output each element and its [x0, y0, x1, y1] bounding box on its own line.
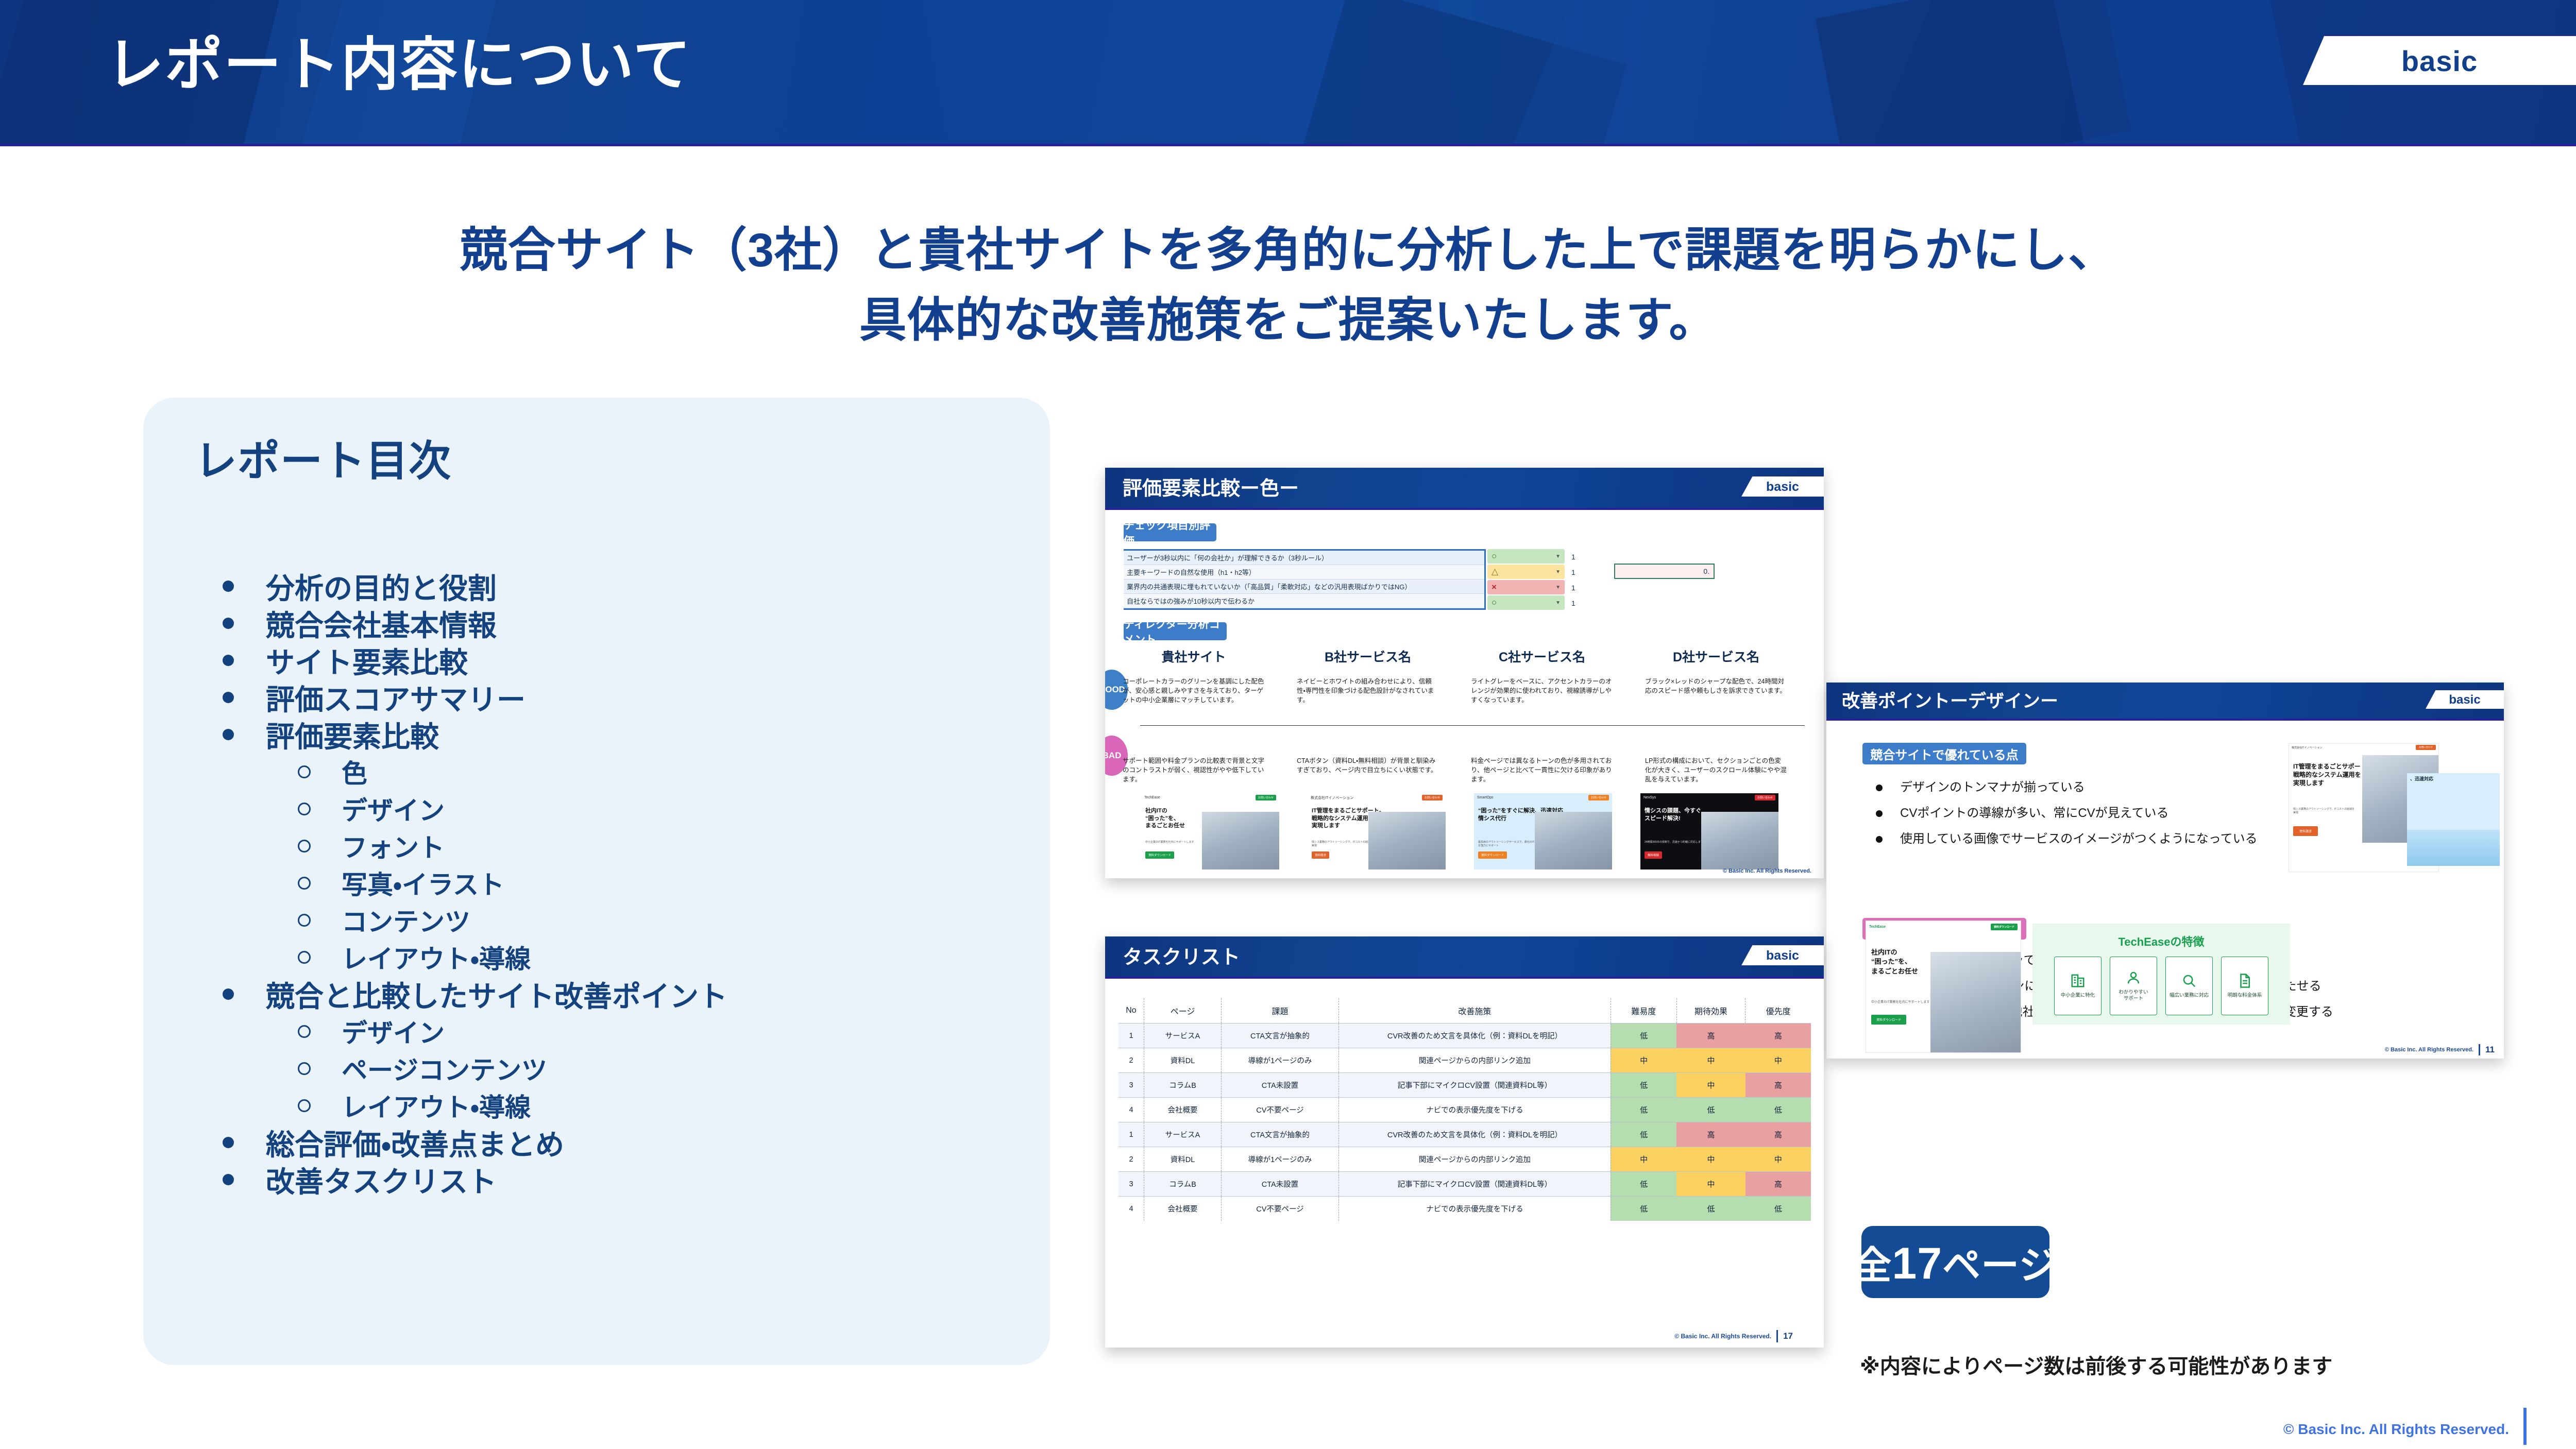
feature-card: 幅広い業務に対応: [2165, 957, 2213, 1015]
task-cell-no: 2: [1118, 1147, 1144, 1172]
toc-item-label: 競合会社基本情報: [266, 603, 497, 644]
task-cell-priority: 高: [1745, 1172, 1811, 1197]
toc-item[interactable]: コンテンツ: [200, 901, 1035, 939]
eval-row: ユーザーが3秒以内に「何の会社か」が理解できるか（3秒ルール）: [1124, 551, 1484, 565]
comparison-column: D社サービス名ブラック×レッドのシャープな配色で、24時間対応のスピード感や頼も…: [1645, 647, 1787, 784]
task-cell-issue: CTA未設置: [1222, 1073, 1339, 1098]
eval-table: ユーザーが3秒以内に「何の会社か」が理解できるか（3秒ルール）主要キーワードの自…: [1124, 551, 1484, 608]
task-cell-priority: 低: [1745, 1098, 1811, 1122]
table-row[interactable]: 1サービスACTA文言が抽象的CVR改善のため文言を具体化（例：資料DLを明記）…: [1118, 1024, 1811, 1048]
header-polygon-5: [1501, 0, 1951, 146]
comparison-column: 貴社サイトコーポレートカラーのグリーンを基調にした配色が、安心感と親しみやすさを…: [1123, 647, 1265, 784]
toc-item-label: レイアウト・導線: [342, 939, 531, 976]
feature-panel-title: TechEaseの特徴: [2032, 933, 2290, 949]
slide-a-underline: [1105, 508, 1824, 510]
header-underline: [0, 144, 2576, 146]
task-cell-effect: 中: [1676, 1048, 1745, 1073]
slide-preview-evaluation-color[interactable]: 評価要素比較ー色ー basic チェック項目別評価 ユーザーが3秒以内に「何の会…: [1105, 468, 1824, 878]
comparison-column-head: C社サービス名: [1471, 647, 1613, 666]
page-count-note: ※内容によりページ数は前後する可能性があります: [1860, 1350, 2332, 1379]
bullet-hollow-icon: [298, 803, 311, 815]
toc-item-label: 総合評価・改善点まとめ: [266, 1122, 564, 1164]
task-cell-page: サービスA: [1144, 1024, 1221, 1048]
bullet-filled-icon: [223, 692, 234, 703]
feature-card: 明朗な料金体系: [2221, 957, 2268, 1015]
bullet-dot-icon: [1876, 810, 1883, 817]
slide-b-page-number: 11: [2485, 1045, 2495, 1055]
bullet-item: デザインのトンマナが揃っている: [1876, 781, 2258, 794]
bullet-text: CVポイントの導線が多い、常にCVが見えている: [1900, 807, 2168, 820]
toc-item-label: 色: [342, 753, 367, 790]
site-nav-cta[interactable]: お問い合わせ: [1422, 795, 1443, 800]
site-hero-sub: 中小企業のIT業務を社内にサポートします: [1145, 840, 1207, 844]
toc-item-label: フォント: [342, 827, 445, 864]
task-cell-page: コラムB: [1144, 1073, 1221, 1098]
site-hero-cta[interactable]: 資料ダウンロード: [1478, 851, 1507, 859]
feature-card-caption: 幅広い業務に対応: [2167, 993, 2211, 999]
toc-item-label: コンテンツ: [342, 901, 470, 939]
task-cell-effect: 低: [1676, 1098, 1745, 1122]
task-cell-difficulty: 低: [1611, 1197, 1676, 1221]
header-polygon-3: [918, 0, 1472, 146]
task-cell-difficulty: 低: [1611, 1098, 1676, 1122]
eval-row: 主要キーワードの自然な使用（h1・h2等）: [1124, 565, 1484, 579]
slide-b-copyright: © Basic Inc. All Rights Reserved.: [2385, 1047, 2473, 1053]
eval-score-column: 1111: [1571, 549, 1613, 611]
task-cell-issue: CV不要ページ: [1222, 1197, 1339, 1221]
bullet-text: デザインのトンマナが揃っている: [1900, 781, 2085, 794]
slide-c-foot-rule: [1776, 1330, 1778, 1342]
site-brand: 株式会社ITイノベーション: [1311, 795, 1353, 800]
task-cell-difficulty: 低: [1611, 1024, 1676, 1048]
eval-mark-select[interactable]: ○▼: [1487, 549, 1565, 564]
task-cell-difficulty: 低: [1611, 1172, 1676, 1197]
task-cell-difficulty: 低: [1611, 1073, 1676, 1098]
toc-item-label: 評価スコアサマリー: [266, 677, 526, 719]
feature-card-row: 中小企業に特化わかりやすい サポート幅広い業務に対応明朗な料金体系: [2032, 957, 2290, 1015]
slide-c-logo: basic: [1741, 945, 1824, 966]
footer-copyright: © Basic Inc. All Rights Reserved.: [2283, 1421, 2509, 1438]
table-row[interactable]: 3コラムBCTA未設置記事下部にマイクロCV設置（関連資料DL等）低中高: [1118, 1073, 1811, 1098]
task-cell-priority: 中: [1745, 1048, 1811, 1073]
slide-c-footer: © Basic Inc. All Rights Reserved. 17: [1674, 1330, 1793, 1342]
total-pages-badge: 全17ページ: [1861, 1226, 2049, 1298]
site-hero-sub: 24時間365日の体制で、迅速かつ的確に対応します: [1645, 840, 1706, 844]
bullet-hollow-icon: [298, 914, 311, 927]
slide-preview-improvement-design[interactable]: 改善ポイントーデザインー basic 競合サイトで優れている点 デザインのトンマ…: [1826, 683, 2504, 1059]
bullet-text: 使用している画像でサービスのイメージがつくようになっている: [1900, 833, 2258, 845]
toc-item[interactable]: 色: [200, 753, 1035, 790]
bullet-hollow-icon: [298, 951, 311, 964]
toc-item[interactable]: ページコンテンツ: [200, 1050, 1035, 1087]
feature-card-caption: 中小企業に特化: [2059, 993, 2097, 999]
comparison-bad-text: CTAボタン（資料DL・無料相談）が背景と馴染みすぎており、ページ内で目立ちにく…: [1297, 756, 1439, 775]
mockup-cta[interactable]: 資料請求: [2293, 826, 2318, 836]
client-mock-photo: [1930, 952, 2021, 1052]
task-cell-action: ナビでの表示優先度を下げる: [1338, 1098, 1611, 1122]
comparison-column-head: B社サービス名: [1297, 647, 1439, 666]
eval-item-text: 自社ならではの強みが10秒以内で伝わるか: [1124, 594, 1484, 608]
toc-item[interactable]: デザイン: [200, 790, 1035, 827]
toc-item-label: 改善タスクリスト: [266, 1159, 497, 1201]
search-icon: [2181, 973, 2197, 988]
table-row[interactable]: 3コラムBCTA未設置記事下部にマイクロCV設置（関連資料DL等）低中高: [1118, 1172, 1811, 1197]
site-hero-headline: 社内ITの “困った”を、 まるごとお任せ: [1145, 807, 1185, 830]
badge-suffix: ページ: [1942, 1244, 2058, 1287]
comparison-good-text: ネイビーとホワイトの組み合わせにより、信頼性・専門性を印象づける配色設計がなされ…: [1297, 677, 1439, 737]
slide-c-header: タスクリスト basic: [1105, 936, 1824, 977]
comparison-column: C社サービス名ライトグレーをベースに、アクセントカラーのオレンジが効果的に使われ…: [1471, 647, 1613, 784]
mockup-headline: IT管理をまるごとサポート。 戦略的なシステム運用を 実現します: [2293, 762, 2372, 788]
eval-score-value: 1: [1571, 595, 1613, 611]
client-mock-cta[interactable]: 資料ダウンロード: [1871, 1015, 1906, 1025]
client-mock-headline: 社内ITの “困った”を、 まるごとお任せ: [1871, 948, 1918, 976]
comparison-column-head: D社サービス名: [1645, 647, 1787, 666]
footer-rule: [2523, 1408, 2527, 1445]
eval-mark-value: △: [1492, 567, 1498, 577]
table-column-header: 期待効果: [1676, 998, 1745, 1024]
header-polygon-7: [2049, 0, 2309, 146]
header-polygon-4: [1290, 0, 1626, 146]
task-cell-issue: CV不要ページ: [1222, 1098, 1339, 1122]
bullet-filled-icon: [223, 618, 234, 629]
bullet-filled-icon: [223, 1137, 234, 1148]
task-cell-difficulty: 中: [1611, 1147, 1676, 1172]
slide-c-page-number: 17: [1783, 1331, 1793, 1341]
header-polygon-6: [1816, 0, 2131, 146]
slide-preview-task-list[interactable]: タスクリスト basic Noページ課題改善施策難易度期待効果優先度1サービスA…: [1105, 936, 1824, 1348]
task-cell-page: 会社概要: [1144, 1197, 1221, 1221]
eval-table-frame: ユーザーが3秒以内に「何の会社か」が理解できるか（3秒ルール）主要キーワードの自…: [1124, 549, 1486, 610]
headline-line-1: 競合サイト（3社）と貴社サイトを多角的に分析した上で課題を明らかにし、: [0, 215, 2576, 285]
task-table: Noページ課題改善施策難易度期待効果優先度1サービスACTA文言が抽象的CVR改…: [1118, 998, 1811, 1221]
slide-b-logo-text: basic: [2449, 693, 2480, 707]
toc-item[interactable]: 競合会社基本情報: [200, 605, 1035, 642]
eval-mark-select[interactable]: △▼: [1487, 565, 1565, 579]
client-mock-brand: TechEase: [1869, 925, 1886, 929]
eval-mark-value: ○: [1492, 551, 1497, 561]
eval-mark-value: ×: [1492, 582, 1497, 592]
slide-c-underline: [1105, 977, 1824, 979]
feature-card: わかりやすい サポート: [2110, 957, 2157, 1015]
chevron-down-icon: ▼: [1555, 569, 1561, 575]
page-header: レポート内容について basic: [0, 0, 2576, 146]
task-cell-issue: CTA未設置: [1222, 1172, 1339, 1197]
building-icon: [2070, 973, 2086, 988]
bullet-filled-icon: [223, 655, 234, 666]
site-hero-sub: 情シス業務のアウトソーシングで、ITコストの削減を実現: [1312, 840, 1374, 847]
site-hero-image: [1368, 812, 1446, 870]
site-nav-cta[interactable]: お問い合わせ: [1755, 795, 1775, 800]
chip-competitor-strengths: 競合サイトで優れている点: [1862, 743, 2026, 764]
toc-item[interactable]: 総合評価・改善点まとめ: [200, 1124, 1035, 1161]
task-cell-effect: 中: [1676, 1073, 1745, 1098]
site-hero-image: [1535, 812, 1612, 870]
chip-director-comment: ディレクター分析コメント: [1124, 622, 1227, 640]
site-hero-headline: 情シスの課題、今すぐ スピード解決!: [1645, 807, 1701, 822]
site-hero-image: [1701, 812, 1778, 870]
site-screenshot: SmartOpsお問い合わせ“困った”をすぐに解決、迅速対応 情シス代行最高峰の…: [1474, 793, 1612, 870]
toc-item[interactable]: 評価スコアサマリー: [200, 679, 1035, 716]
feature-card: 中小企業に特化: [2054, 957, 2102, 1015]
task-cell-no: 4: [1118, 1197, 1144, 1221]
badge-number: 17: [1892, 1239, 1942, 1288]
task-cell-page: 資料DL: [1144, 1048, 1221, 1073]
mockup-secondary: 、迅速対応: [2407, 773, 2500, 866]
brand-logo-text: basic: [2401, 44, 2478, 78]
bullet-dot-icon: [1876, 785, 1883, 791]
toc-item-label: 競合と比較したサイト改善ポイント: [266, 974, 727, 1015]
site-hero-cta[interactable]: 無料相談: [1645, 851, 1662, 859]
task-cell-action: 記事下部にマイクロCV設置（関連資料DL等）: [1338, 1073, 1611, 1098]
task-cell-effect: 中: [1676, 1147, 1745, 1172]
bullet-item: CVポイントの導線が多い、常にCVが見えている: [1876, 807, 2258, 820]
comparison-grid: 貴社サイトコーポレートカラーのグリーンを基調にした配色が、安心感と親しみやすさを…: [1123, 647, 1808, 784]
total-pages-text: 全17ページ: [1853, 1235, 2057, 1290]
task-cell-priority: 中: [1745, 1147, 1811, 1172]
task-cell-action: ナビでの表示優先度を下げる: [1338, 1197, 1611, 1221]
task-cell-no: 3: [1118, 1172, 1144, 1197]
toc-item-label: レイアウト・導線: [342, 1087, 531, 1124]
toc-item-label: デザイン: [342, 1013, 445, 1050]
slide-b-foot-rule: [2479, 1044, 2480, 1055]
eval-score-input[interactable]: 0.: [1614, 564, 1715, 579]
toc-item-label: 写真・イラスト: [342, 864, 504, 901]
task-cell-action: CVR改善のため文言を具体化（例：資料DLを明記）: [1338, 1122, 1611, 1147]
site-hero-image: [1202, 812, 1279, 870]
comparison-bad-text: サポート範囲や料金プランの比較表で背景と文字のコントラストが弱く、視認性がやや低…: [1123, 756, 1265, 784]
task-cell-action: CVR改善のため文言を具体化（例：資料DLを明記）: [1338, 1024, 1611, 1048]
eval-mark-value: ○: [1492, 598, 1497, 608]
table-row[interactable]: 4会社概要CV不要ページナビでの表示優先度を下げる低低低: [1118, 1197, 1811, 1221]
toc-item-label: 評価要素比較: [266, 714, 439, 756]
site-screenshot: TechEaseお問い合わせ社内ITの “困った”を、 まるごとお任せ中小企業の…: [1141, 793, 1279, 870]
table-column-header: ページ: [1144, 998, 1221, 1024]
mockup-stack: 株式会社ITイノベーション お問い合わせ IT管理をまるごとサポート。 戦略的な…: [2289, 743, 2495, 877]
site-brand: SmartOps: [1477, 796, 1494, 799]
mockup-nav-cta[interactable]: お問い合わせ: [2416, 745, 2436, 750]
comparison-column: B社サービス名ネイビーとホワイトの組み合わせにより、信頼性・専門性を印象づける配…: [1297, 647, 1439, 784]
task-cell-effect: 高: [1676, 1024, 1745, 1048]
page-title: レポート内容について: [106, 36, 692, 94]
mockup-sub: 情シス業務のアウトソーシングで、ITコストの削減を実現: [2293, 808, 2355, 815]
document-icon: [2237, 973, 2252, 988]
eval-item-text: 業界内の共通表現に埋もれていないか（「高品質」「柔軟対応」などの汎用表現ばかりで…: [1124, 579, 1484, 594]
slide-c-logo-text: basic: [1766, 948, 1799, 963]
bullet-hollow-icon: [298, 1099, 311, 1112]
brand-logo-plate: basic: [2303, 35, 2576, 87]
chevron-down-icon: ▼: [1555, 554, 1561, 559]
task-cell-priority: 低: [1745, 1197, 1811, 1221]
toc-item[interactable]: 評価要素比較: [200, 716, 1035, 753]
slide-a-footer: © Basic Inc. All Rights Reserved.: [1723, 868, 1811, 874]
table-row[interactable]: 2資料DL導線が1ページのみ関連ページからの内部リンク追加中中中: [1118, 1048, 1811, 1073]
eval-item-text: 主要キーワードの自然な使用（h1・h2等）: [1124, 565, 1484, 579]
toc-item[interactable]: デザイン: [200, 1013, 1035, 1050]
person-support-icon: [2126, 970, 2141, 985]
headline: 競合サイト（3社）と貴社サイトを多角的に分析した上で課題を明らかにし、 具体的な…: [0, 215, 2576, 355]
slide-b-logo: basic: [2426, 690, 2504, 710]
slide-b-title: 改善ポイントーデザインー: [1842, 692, 2058, 710]
comparison-good-text: コーポレートカラーのグリーンを基調にした配色が、安心感と親しみやすさを与えており…: [1123, 677, 1265, 737]
slide-b-footer: © Basic Inc. All Rights Reserved. 11: [2385, 1044, 2495, 1055]
bullet-filled-icon: [223, 729, 234, 740]
feature-panel: TechEaseの特徴 中小企業に特化わかりやすい サポート幅広い業務に対応明朗…: [2032, 924, 2290, 1025]
task-cell-issue: 導線が1ページのみ: [1222, 1048, 1339, 1073]
slide-a-logo-text: basic: [1766, 480, 1799, 495]
bullet-hollow-icon: [298, 1062, 311, 1075]
slide-c-copyright: © Basic Inc. All Rights Reserved.: [1674, 1333, 1771, 1340]
site-hero-cta[interactable]: 資料請求: [1312, 851, 1329, 859]
task-cell-no: 1: [1118, 1122, 1144, 1147]
feature-card-caption: 明朗な料金体系: [2226, 993, 2264, 999]
eval-score-value: 1: [1571, 565, 1613, 580]
task-cell-effect: 中: [1676, 1172, 1745, 1197]
task-cell-issue: CTA文言が抽象的: [1222, 1122, 1339, 1147]
task-cell-action: 記事下部にマイクロCV設置（関連資料DL等）: [1338, 1172, 1611, 1197]
toc-item[interactable]: 改善タスクリスト: [200, 1161, 1035, 1198]
site-hero-cta[interactable]: 資料ダウンロード: [1145, 851, 1174, 859]
mockup-brand: 株式会社ITイノベーション: [2292, 746, 2322, 749]
task-cell-priority: 高: [1745, 1122, 1811, 1147]
site-screenshot: 株式会社ITイノベーションお問い合わせIT管理をまるごとサポート。 戦略的なシス…: [1308, 793, 1446, 870]
slide-a-title: 評価要素比較ー色ー: [1123, 479, 1299, 499]
comparison-bad-text: 料金ページでは異なるトーンの色が多用されており、他ページと比べて一貫性に欠ける印…: [1471, 756, 1613, 784]
task-cell-page: コラムB: [1144, 1172, 1221, 1197]
slide-b-underline: [1826, 719, 2504, 721]
toc-title: レポート目次: [195, 427, 451, 488]
toc-item[interactable]: 写真・イラスト: [200, 864, 1035, 901]
task-cell-priority: 高: [1745, 1073, 1811, 1098]
task-cell-no: 1: [1118, 1024, 1144, 1048]
bullet-hollow-icon: [298, 765, 311, 778]
eval-mark-select[interactable]: ×▼: [1487, 580, 1565, 594]
bullet-dot-icon: [1876, 836, 1883, 843]
table-row[interactable]: 1サービスACTA文言が抽象的CVR改善のため文言を具体化（例：資料DLを明記）…: [1118, 1122, 1811, 1147]
bullet-filled-icon: [223, 581, 234, 592]
task-cell-action: 関連ページからの内部リンク追加: [1338, 1147, 1611, 1172]
bullet-hollow-icon: [298, 1025, 311, 1038]
table-row[interactable]: 4会社概要CV不要ページナビでの表示優先度を下げる低低低: [1118, 1098, 1811, 1122]
toc-item[interactable]: 競合と比較したサイト改善ポイント: [200, 976, 1035, 1013]
table-column-header: 改善施策: [1338, 998, 1611, 1024]
toc-item[interactable]: 分析の目的と役割: [200, 568, 1035, 605]
task-cell-no: 2: [1118, 1048, 1144, 1073]
task-cell-page: 資料DL: [1144, 1147, 1221, 1172]
site-brand: TechEase: [1144, 796, 1160, 799]
feature-card-caption: わかりやすい サポート: [2116, 990, 2150, 1002]
site-nav-cta[interactable]: お問い合わせ: [1588, 795, 1609, 800]
headline-line-2: 具体的な改善施策をご提案いたします。: [0, 285, 2576, 355]
mockup-client-site: TechEase 資料ダウンロード 社内ITの “困った”を、 まるごとお任せ …: [1866, 920, 2021, 1053]
table-column-header: 課題: [1222, 998, 1339, 1024]
eval-score-value: 1: [1571, 549, 1613, 565]
client-mock-nav-cta[interactable]: 資料ダウンロード: [1991, 924, 2018, 930]
toc-item[interactable]: レイアウト・導線: [200, 939, 1035, 976]
comparison-bad-text: LP形式の構成において、セクションごとの色変化が大きく、ユーザーのスクロール体験…: [1645, 756, 1787, 784]
eval-item-text: ユーザーが3秒以内に「何の会社か」が理解できるか（3秒ルール）: [1124, 551, 1484, 565]
chevron-down-icon: ▼: [1555, 600, 1561, 606]
task-cell-difficulty: 低: [1611, 1122, 1676, 1147]
site-brand: NexSys: [1643, 796, 1656, 799]
table-column-header: 優先度: [1745, 998, 1811, 1024]
task-cell-difficulty: 中: [1611, 1048, 1676, 1073]
task-cell-no: 3: [1118, 1073, 1144, 1098]
competitor-strength-list: デザインのトンマナが揃っているCVポイントの導線が多い、常にCVが見えている使用…: [1876, 781, 2258, 859]
chevron-down-icon: ▼: [1555, 585, 1561, 590]
toc-panel: レポート目次 分析の目的と役割競合会社基本情報サイト要素比較評価スコアサマリー評…: [143, 398, 1050, 1365]
task-cell-no: 4: [1118, 1098, 1144, 1122]
task-cell-action: 関連ページからの内部リンク追加: [1338, 1048, 1611, 1073]
site-screenshot-row: TechEaseお問い合わせ社内ITの “困った”を、 まるごとお任せ中小企業の…: [1141, 793, 1795, 870]
eval-row: 業界内の共通表現に埋もれていないか（「高品質」「柔軟対応」などの汎用表現ばかりで…: [1124, 579, 1484, 594]
toc-item-label: 分析の目的と役割: [266, 566, 497, 607]
table-header-row: Noページ課題改善施策難易度期待効果優先度: [1118, 998, 1811, 1024]
bullet-hollow-icon: [298, 877, 311, 890]
toc-item-label: デザイン: [342, 790, 445, 827]
site-screenshot: NexSysお問い合わせ情シスの課題、今すぐ スピード解決!24時間365日の体…: [1640, 793, 1778, 870]
toc-item[interactable]: レイアウト・導線: [200, 1087, 1035, 1124]
toc-item[interactable]: フォント: [200, 827, 1035, 864]
comparison-good-text: ライトグレーをベースに、アクセントカラーのオレンジが効果的に使われており、視線誘…: [1471, 677, 1613, 737]
eval-mark-column[interactable]: ○▼△▼×▼○▼: [1487, 549, 1565, 611]
comparison-column-head: 貴社サイト: [1123, 647, 1265, 666]
slide-a-header: 評価要素比較ー色ー basic: [1105, 468, 1824, 508]
eval-row: 自社ならではの強みが10秒以内で伝わるか: [1124, 594, 1484, 608]
slide-a-logo: basic: [1741, 476, 1824, 498]
task-cell-priority: 高: [1745, 1024, 1811, 1048]
site-hero-sub: 最高峰のアウトソーシングサービスで、貴社のIT業務を強力にサポート: [1478, 840, 1540, 847]
task-cell-issue: CTA文言が抽象的: [1222, 1024, 1339, 1048]
task-cell-effect: 高: [1676, 1122, 1745, 1147]
task-cell-effect: 低: [1676, 1197, 1745, 1221]
task-cell-page: サービスA: [1144, 1122, 1221, 1147]
bullet-hollow-icon: [298, 840, 311, 853]
comparison-good-text: ブラック×レッドのシャープな配色で、24時間対応のスピード感や頼もしさを訴求でき…: [1645, 677, 1787, 737]
toc-item-label: ページコンテンツ: [342, 1050, 547, 1087]
task-cell-issue: 導線が1ページのみ: [1222, 1147, 1339, 1172]
table-column-header: No: [1118, 998, 1144, 1024]
bullet-filled-icon: [223, 988, 234, 1000]
slide-c-title: タスクリスト: [1123, 948, 1240, 967]
badge-prefix: 全: [1853, 1244, 1892, 1287]
table-row[interactable]: 2資料DL導線が1ページのみ関連ページからの内部リンク追加中中中: [1118, 1147, 1811, 1172]
table-column-header: 難易度: [1611, 998, 1676, 1024]
toc-item[interactable]: サイト要素比較: [200, 642, 1035, 679]
toc-list: 分析の目的と役割競合会社基本情報サイト要素比較評価スコアサマリー評価要素比較色デ…: [200, 568, 1035, 1198]
eval-mark-select[interactable]: ○▼: [1487, 595, 1565, 610]
site-nav-cta[interactable]: お問い合わせ: [1256, 795, 1276, 800]
eval-score-value: 1: [1571, 580, 1613, 595]
task-cell-page: 会社概要: [1144, 1098, 1221, 1122]
toc-item-label: サイト要素比較: [266, 640, 468, 681]
bullet-filled-icon: [223, 1174, 234, 1185]
bullet-item: 使用している画像でサービスのイメージがつくようになっている: [1876, 833, 2258, 845]
chip-check-items: チェック項目別評価: [1124, 523, 1216, 541]
slide-b-header: 改善ポイントーデザインー basic: [1826, 683, 2504, 719]
